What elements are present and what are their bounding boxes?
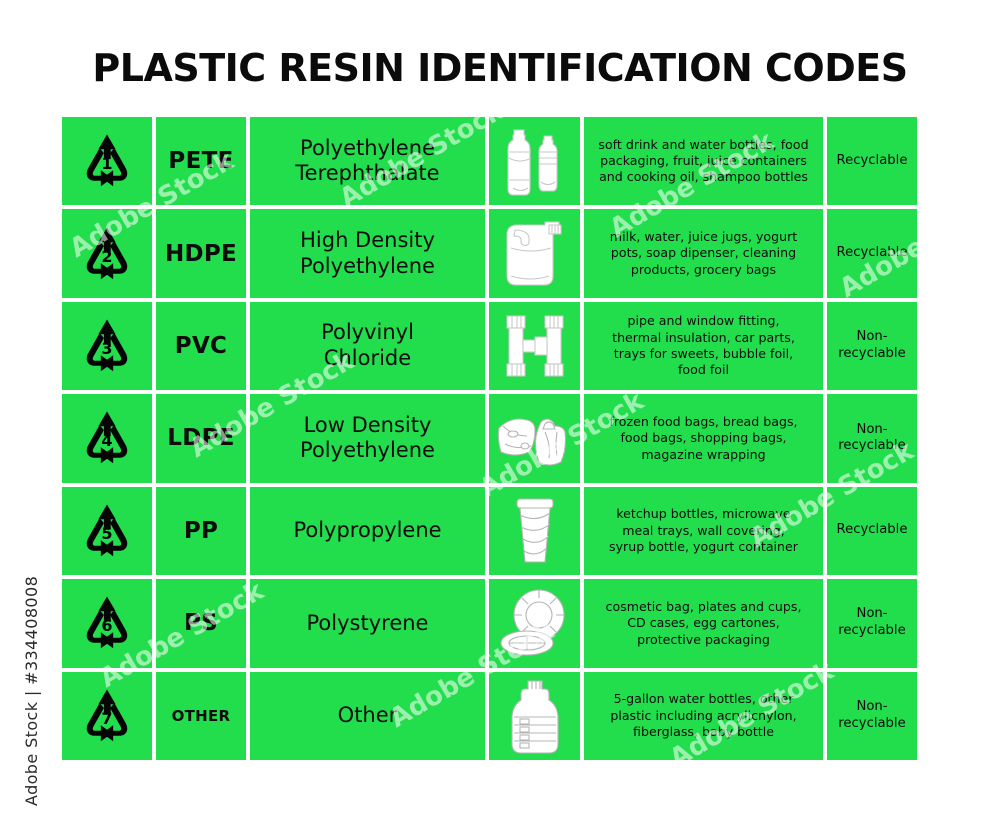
cell-product-image [489, 672, 580, 760]
abbreviation-label: OTHER [172, 707, 231, 725]
cell-recycling-symbol: 1 [62, 117, 152, 205]
abbreviation-label: PS [184, 610, 218, 636]
table-row: 1 PETE Polyethylene Terephthalate [62, 117, 917, 205]
recycling-triangle-4-icon: 4 [76, 409, 138, 467]
cell-product-image [489, 487, 580, 575]
pvc-pipe-fitting-icon [497, 312, 573, 380]
recyclability-label: Recyclable [833, 153, 912, 170]
table-row: 4 LDPE Low Density Polyethylene [62, 394, 917, 482]
recyclability-line1: Non- [838, 422, 905, 439]
water-cooler-jug-icon [504, 677, 566, 755]
uses-line1: frozen food bags, bread bags, [609, 414, 797, 430]
table-row: 2 HDPE High Density Polyethylene [62, 209, 917, 297]
plastic-bottles-icon [500, 122, 570, 200]
uses-line1: milk, water, juice jugs, yogurt [610, 229, 797, 245]
cell-common-uses: soft drink and water bottles, food packa… [584, 117, 823, 205]
cell-abbreviation: LDPE [156, 394, 246, 482]
abbreviation-label: HDPE [165, 241, 237, 267]
cell-full-name: Polypropylene [250, 487, 485, 575]
cell-full-name: Polystyrene [250, 579, 485, 667]
uses-line3: products, grocery bags [610, 262, 797, 278]
full-name-label: Low Density Polyethylene [294, 413, 441, 464]
recyclability-label: Recyclable [833, 245, 912, 262]
full-name-line2: Chloride [321, 346, 414, 372]
cell-abbreviation: HDPE [156, 209, 246, 297]
cell-recycling-symbol: 4 [62, 394, 152, 482]
abbreviation-label: PP [184, 518, 218, 544]
cell-recyclability: Recyclable [827, 209, 917, 297]
full-name-line1: Polystyrene [307, 611, 429, 637]
recyclability-label: Non- recyclable [834, 329, 909, 363]
uses-line2: meal trays, wall covering, [609, 523, 798, 539]
table-row: 3 PVC Polyvinyl Chloride [62, 302, 917, 390]
full-name-line1: Other [338, 703, 398, 729]
uses-line2: pots, soap dipenser, cleaning [610, 245, 797, 261]
cell-abbreviation: PVC [156, 302, 246, 390]
abbreviation-label: PETE [168, 148, 233, 174]
cell-full-name: Low Density Polyethylene [250, 394, 485, 482]
uses-line2: CD cases, egg cartones, [606, 615, 802, 631]
full-name-label: Polyvinyl Chloride [315, 320, 420, 371]
full-name-line1: Polypropylene [293, 518, 441, 544]
cell-full-name: High Density Polyethylene [250, 209, 485, 297]
full-name-line1: Polyethylene [295, 136, 439, 162]
full-name-label: Polyethylene Terephthalate [289, 136, 445, 187]
cell-abbreviation: PETE [156, 117, 246, 205]
resin-code-number: 6 [101, 616, 112, 635]
cell-abbreviation: PS [156, 579, 246, 667]
page-title: PLASTIC RESIN IDENTIFICATION CODES [0, 46, 1000, 90]
cell-common-uses: cosmetic bag, plates and cups, CD cases,… [584, 579, 823, 667]
uses-line3: and cooking oil, shampoo bottles [598, 169, 808, 185]
recyclability-label: Non- recyclable [834, 606, 909, 640]
cell-common-uses: ketchup bottles, microwave meal trays, w… [584, 487, 823, 575]
common-uses-label: pipe and window fitting, thermal insulat… [604, 313, 803, 378]
uses-line3: trays for sweets, bubble foil, [612, 346, 795, 362]
cell-recycling-symbol: 3 [62, 302, 152, 390]
cell-product-image [489, 579, 580, 667]
recyclability-label: Recyclable [833, 522, 912, 539]
table-row: 5 PP Polypropylene ketchup bottles [62, 487, 917, 575]
resin-code-number: 3 [101, 339, 112, 358]
cell-recyclability: Recyclable [827, 117, 917, 205]
cell-recycling-symbol: 6 [62, 579, 152, 667]
recyclability-line2: recyclable [838, 623, 905, 640]
cell-recycling-symbol: 7 [62, 672, 152, 760]
cell-recyclability: Non- recyclable [827, 394, 917, 482]
full-name-line2: Terephthalate [295, 161, 439, 187]
full-name-line1: Polyvinyl [321, 320, 414, 346]
cell-product-image [489, 394, 580, 482]
cell-common-uses: 5-gallon water bottles, other plastic in… [584, 672, 823, 760]
recyclability-label: Non- recyclable [834, 422, 909, 456]
recyclability-line2: recyclable [838, 438, 905, 455]
uses-line2: plastic including acrylicnylon, [610, 708, 796, 724]
cell-abbreviation: PP [156, 487, 246, 575]
abbreviation-label: LDPE [167, 425, 235, 451]
uses-line1: cosmetic bag, plates and cups, [606, 599, 802, 615]
common-uses-label: milk, water, juice jugs, yogurt pots, so… [602, 229, 805, 278]
uses-line2: packaging, fruit, juice containers [598, 153, 808, 169]
common-uses-label: 5-gallon water bottles, other plastic in… [602, 691, 804, 740]
full-name-line1: Low Density [300, 413, 435, 439]
abbreviation-label: PVC [175, 333, 227, 359]
uses-line1: ketchup bottles, microwave [609, 506, 798, 522]
recyclability-line1: Non- [838, 699, 905, 716]
recycling-triangle-7-icon: 7 [76, 687, 138, 745]
cell-recyclability: Non- recyclable [827, 672, 917, 760]
stock-watermark-sidebar: Adobe Stock | #334408008 [22, 556, 46, 806]
recyclability-line2: recyclable [838, 346, 905, 363]
recycling-triangle-3-icon: 3 [76, 317, 138, 375]
cell-recycling-symbol: 2 [62, 209, 152, 297]
uses-line3: fiberglass, baby bottle [610, 724, 796, 740]
uses-line2: thermal insulation, car parts, [612, 330, 795, 346]
uses-line3: magazine wrapping [609, 447, 797, 463]
common-uses-label: soft drink and water bottles, food packa… [590, 137, 816, 186]
common-uses-label: frozen food bags, bread bags, food bags,… [601, 414, 805, 463]
plastic-jerrycan-icon [497, 218, 573, 290]
common-uses-label: ketchup bottles, microwave meal trays, w… [601, 506, 806, 555]
cell-recyclability: Non- recyclable [827, 579, 917, 667]
foam-plates-icon [495, 587, 575, 659]
cell-full-name: Other [250, 672, 485, 760]
cell-product-image [489, 209, 580, 297]
resin-code-number: 1 [101, 154, 112, 173]
uses-line2: food bags, shopping bags, [609, 430, 797, 446]
common-uses-label: cosmetic bag, plates and cups, CD cases,… [598, 599, 810, 648]
table-row: 7 OTHER Other [62, 672, 917, 760]
full-name-line2: Polyethylene [300, 254, 435, 280]
resin-code-number: 5 [101, 524, 112, 543]
cell-recycling-symbol: 5 [62, 487, 152, 575]
cell-full-name: Polyethylene Terephthalate [250, 117, 485, 205]
uses-line1: pipe and window fitting, [612, 313, 795, 329]
full-name-label: Polypropylene [287, 518, 447, 544]
cell-abbreviation: OTHER [156, 672, 246, 760]
cell-product-image [489, 117, 580, 205]
resin-code-number: 4 [101, 431, 112, 450]
recycling-triangle-2-icon: 2 [76, 225, 138, 283]
recyclability-line2: recyclable [838, 716, 905, 733]
recycling-triangle-6-icon: 6 [76, 594, 138, 652]
uses-line3: protective packaging [606, 632, 802, 648]
resin-code-number: 2 [101, 247, 112, 266]
recycling-triangle-5-icon: 5 [76, 502, 138, 560]
disposable-cup-icon [507, 493, 563, 569]
cell-common-uses: pipe and window fitting, thermal insulat… [584, 302, 823, 390]
cell-product-image [489, 302, 580, 390]
resin-codes-table: 1 PETE Polyethylene Terephthalate [62, 117, 917, 760]
cell-recyclability: Non- recyclable [827, 302, 917, 390]
recyclability-label: Non- recyclable [834, 699, 909, 733]
full-name-label: Other [332, 703, 404, 729]
plastic-bags-icon [495, 408, 575, 468]
full-name-line1: High Density [300, 228, 435, 254]
resin-code-number: 7 [101, 709, 112, 728]
uses-line1: 5-gallon water bottles, other [610, 691, 796, 707]
recyclability-line1: Non- [838, 329, 905, 346]
cell-common-uses: milk, water, juice jugs, yogurt pots, so… [584, 209, 823, 297]
recycling-triangle-1-icon: 1 [76, 132, 138, 190]
cell-common-uses: frozen food bags, bread bags, food bags,… [584, 394, 823, 482]
full-name-label: High Density Polyethylene [294, 228, 441, 279]
full-name-line2: Polyethylene [300, 438, 435, 464]
cell-recyclability: Recyclable [827, 487, 917, 575]
table-row: 6 PS Polystyrene [62, 579, 917, 667]
cell-full-name: Polyvinyl Chloride [250, 302, 485, 390]
full-name-label: Polystyrene [301, 611, 435, 637]
uses-line3: syrup bottle, yogurt container [609, 539, 798, 555]
uses-line4: food foil [612, 362, 795, 378]
uses-line1: soft drink and water bottles, food [598, 137, 808, 153]
recyclability-line1: Non- [838, 606, 905, 623]
